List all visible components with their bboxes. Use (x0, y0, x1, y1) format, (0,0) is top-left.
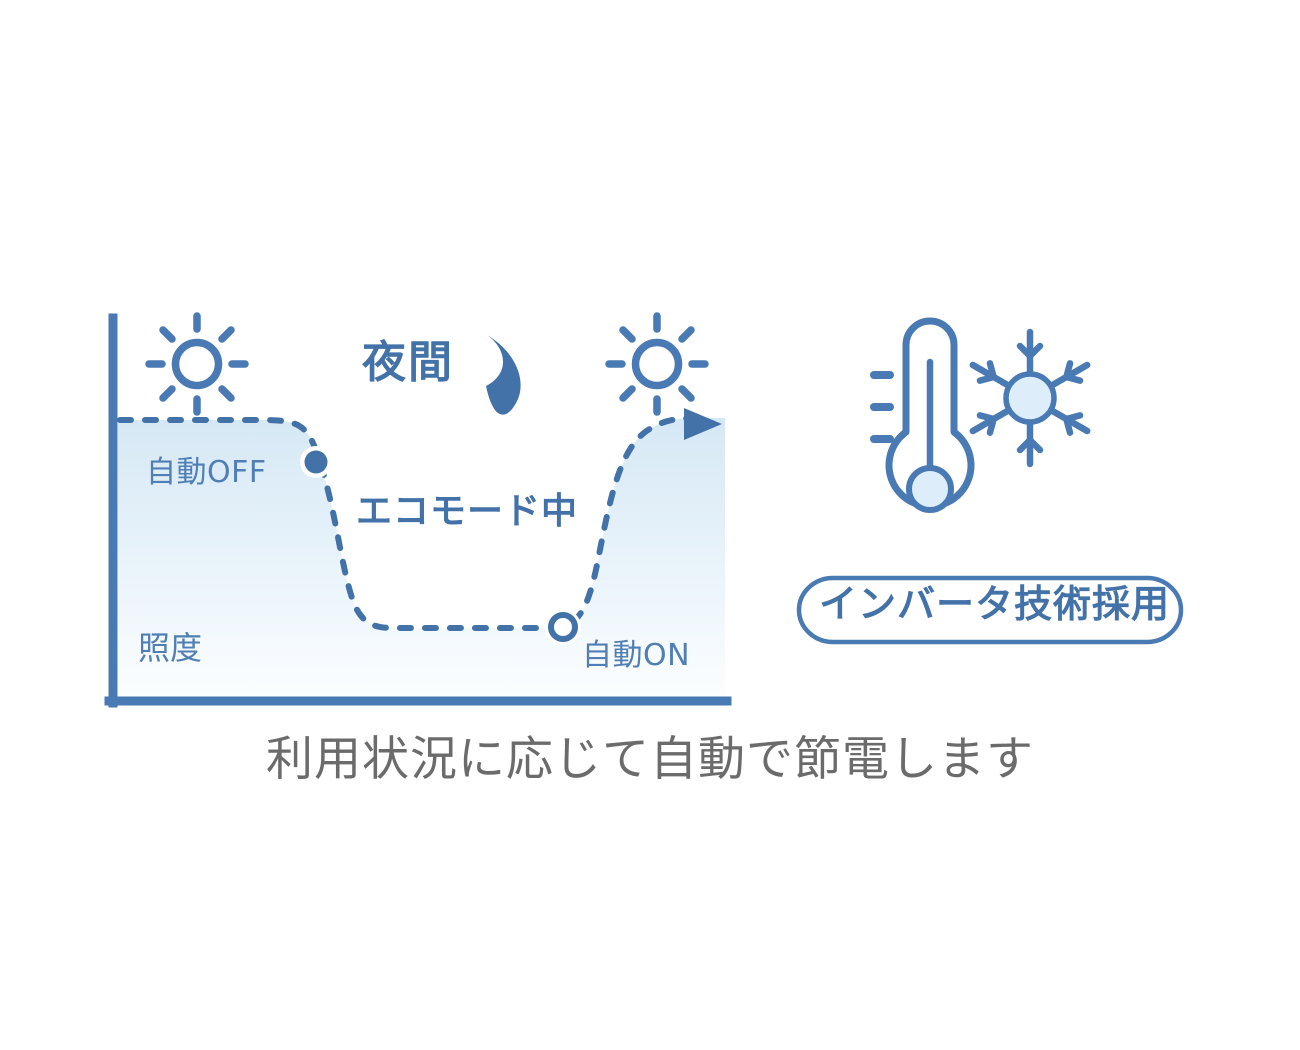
auto-on-label: 自動ON (582, 641, 690, 671)
diagram-graphics (0, 0, 1300, 1050)
diagram-caption: 利用状況に応じて自動で節電します (0, 736, 1300, 783)
auto-off-label: 自動OFF (146, 458, 267, 488)
sun-icon (149, 316, 245, 412)
crescent-moon-icon (486, 335, 521, 415)
thermometer-bulb-fill (909, 468, 951, 510)
snowflake-icon (968, 332, 1092, 464)
snowflake-center-fill (1006, 374, 1054, 422)
auto-on-marker (551, 615, 575, 639)
night-label: 夜間 (362, 341, 454, 385)
thermometer-ticks (874, 375, 890, 439)
eco-mode-label: エコモード中 (356, 493, 578, 529)
illuminance-axis-label: 照度 (138, 632, 202, 664)
auto-off-marker (305, 451, 328, 474)
diagram-canvas: 自動OFF 自動ON エコモード中 照度 夜間 インバータ技術採用 利用状況に応… (0, 0, 1300, 1050)
inverter-badge-label: インバータ技術採用 (819, 586, 1170, 624)
thermometer-icon (889, 321, 971, 510)
sun-icon (609, 316, 705, 412)
